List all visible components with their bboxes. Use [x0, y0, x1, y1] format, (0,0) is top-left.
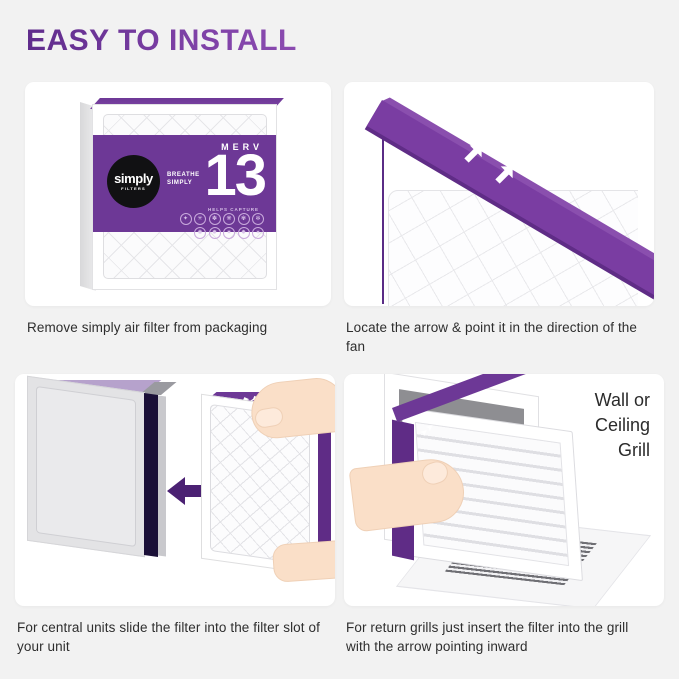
virus-icon: ✦	[180, 213, 192, 225]
wall-label-line-2: Ceiling	[595, 413, 650, 438]
step-2-illustration	[344, 82, 654, 306]
box-purple-label: simply FILTERS BREATHE SIMPLY MERV 13 HE…	[93, 135, 276, 232]
step-card-4: ➤➤ Wall or Ceiling Grill For return gril…	[344, 374, 664, 624]
simply-filters-logo: simply FILTERS	[107, 155, 160, 208]
lint-icon: ✷	[223, 227, 235, 239]
odor-icon: ✸	[238, 227, 250, 239]
wall-label-line-3: Grill	[595, 438, 650, 463]
tagline-line-1: BREATHE	[167, 171, 200, 179]
step-4-caption: For return grills just insert the filter…	[346, 618, 656, 656]
step-1-illustration: simply FILTERS BREATHE SIMPLY MERV 13 HE…	[25, 82, 331, 306]
unit-front-face	[27, 376, 145, 558]
smoke-icon: ❋	[223, 213, 235, 225]
step-1-caption: Remove simply air filter from packaging	[27, 318, 337, 337]
logo-wordmark: simply	[114, 173, 153, 185]
step-card-2: Locate the arrow & point it in the direc…	[344, 82, 654, 327]
mold-spore-icon: ✺	[194, 227, 206, 239]
step-2-image-card	[344, 82, 654, 306]
capture-icon-row-2: ✺ ✹ ✷ ✸ ✶	[170, 227, 264, 239]
step-card-1: simply FILTERS BREATHE SIMPLY MERV 13 HE…	[25, 82, 331, 327]
step-4-image-card: ➤➤ Wall or Ceiling Grill	[344, 374, 664, 606]
step-card-3: ➤➤ For central units slide the filter in…	[15, 374, 335, 624]
dust-mite-icon: ✻	[252, 213, 264, 225]
allergen-icon: ✶	[252, 227, 264, 239]
smog-icon: ✹	[209, 227, 221, 239]
helps-capture-label: HELPS CAPTURE	[208, 207, 259, 212]
wall-or-ceiling-grill-label: Wall or Ceiling Grill	[595, 388, 650, 463]
merv-rating-value: 13	[204, 147, 265, 205]
step-3-image-card: ➤➤	[15, 374, 335, 606]
box-front-face: simply FILTERS BREATHE SIMPLY MERV 13 HE…	[92, 104, 277, 290]
install-instructions-page: EASY TO INSTALL simply FILTERS	[0, 0, 679, 679]
filter-box: simply FILTERS BREATHE SIMPLY MERV 13 HE…	[80, 98, 280, 290]
step-2-caption: Locate the arrow & point it in the direc…	[346, 318, 656, 356]
tagline-line-2: SIMPLY	[167, 179, 200, 187]
hand-icon	[248, 375, 335, 441]
step-1-image-card: simply FILTERS BREATHE SIMPLY MERV 13 HE…	[25, 82, 331, 306]
step-3-illustration: ➤➤	[15, 374, 335, 606]
bacteria-icon: ✳	[194, 213, 206, 225]
pollen-icon: ✽	[209, 213, 221, 225]
airflow-arrow-icon	[460, 141, 486, 167]
tagline: BREATHE SIMPLY	[167, 171, 200, 187]
step-3-caption: For central units slide the filter into …	[17, 618, 327, 656]
unit-filter-slot	[144, 393, 158, 557]
page-title: EASY TO INSTALL	[26, 24, 297, 58]
logo-subtext: FILTERS	[121, 186, 146, 191]
wall-label-line-1: Wall or	[595, 388, 650, 413]
hand-icon	[272, 539, 335, 583]
hvac-unit	[27, 382, 172, 562]
capture-icon-grid: ✦ ✳ ✽ ❋ ✾ ✻ ✺ ✹ ✷	[170, 213, 264, 241]
step-4-illustration: ➤➤ Wall or Ceiling Grill	[344, 374, 664, 606]
pet-dander-icon: ✾	[238, 213, 250, 225]
capture-icon-row-1: ✦ ✳ ✽ ❋ ✾ ✻	[170, 213, 264, 225]
airflow-arrow-icon	[491, 162, 517, 188]
